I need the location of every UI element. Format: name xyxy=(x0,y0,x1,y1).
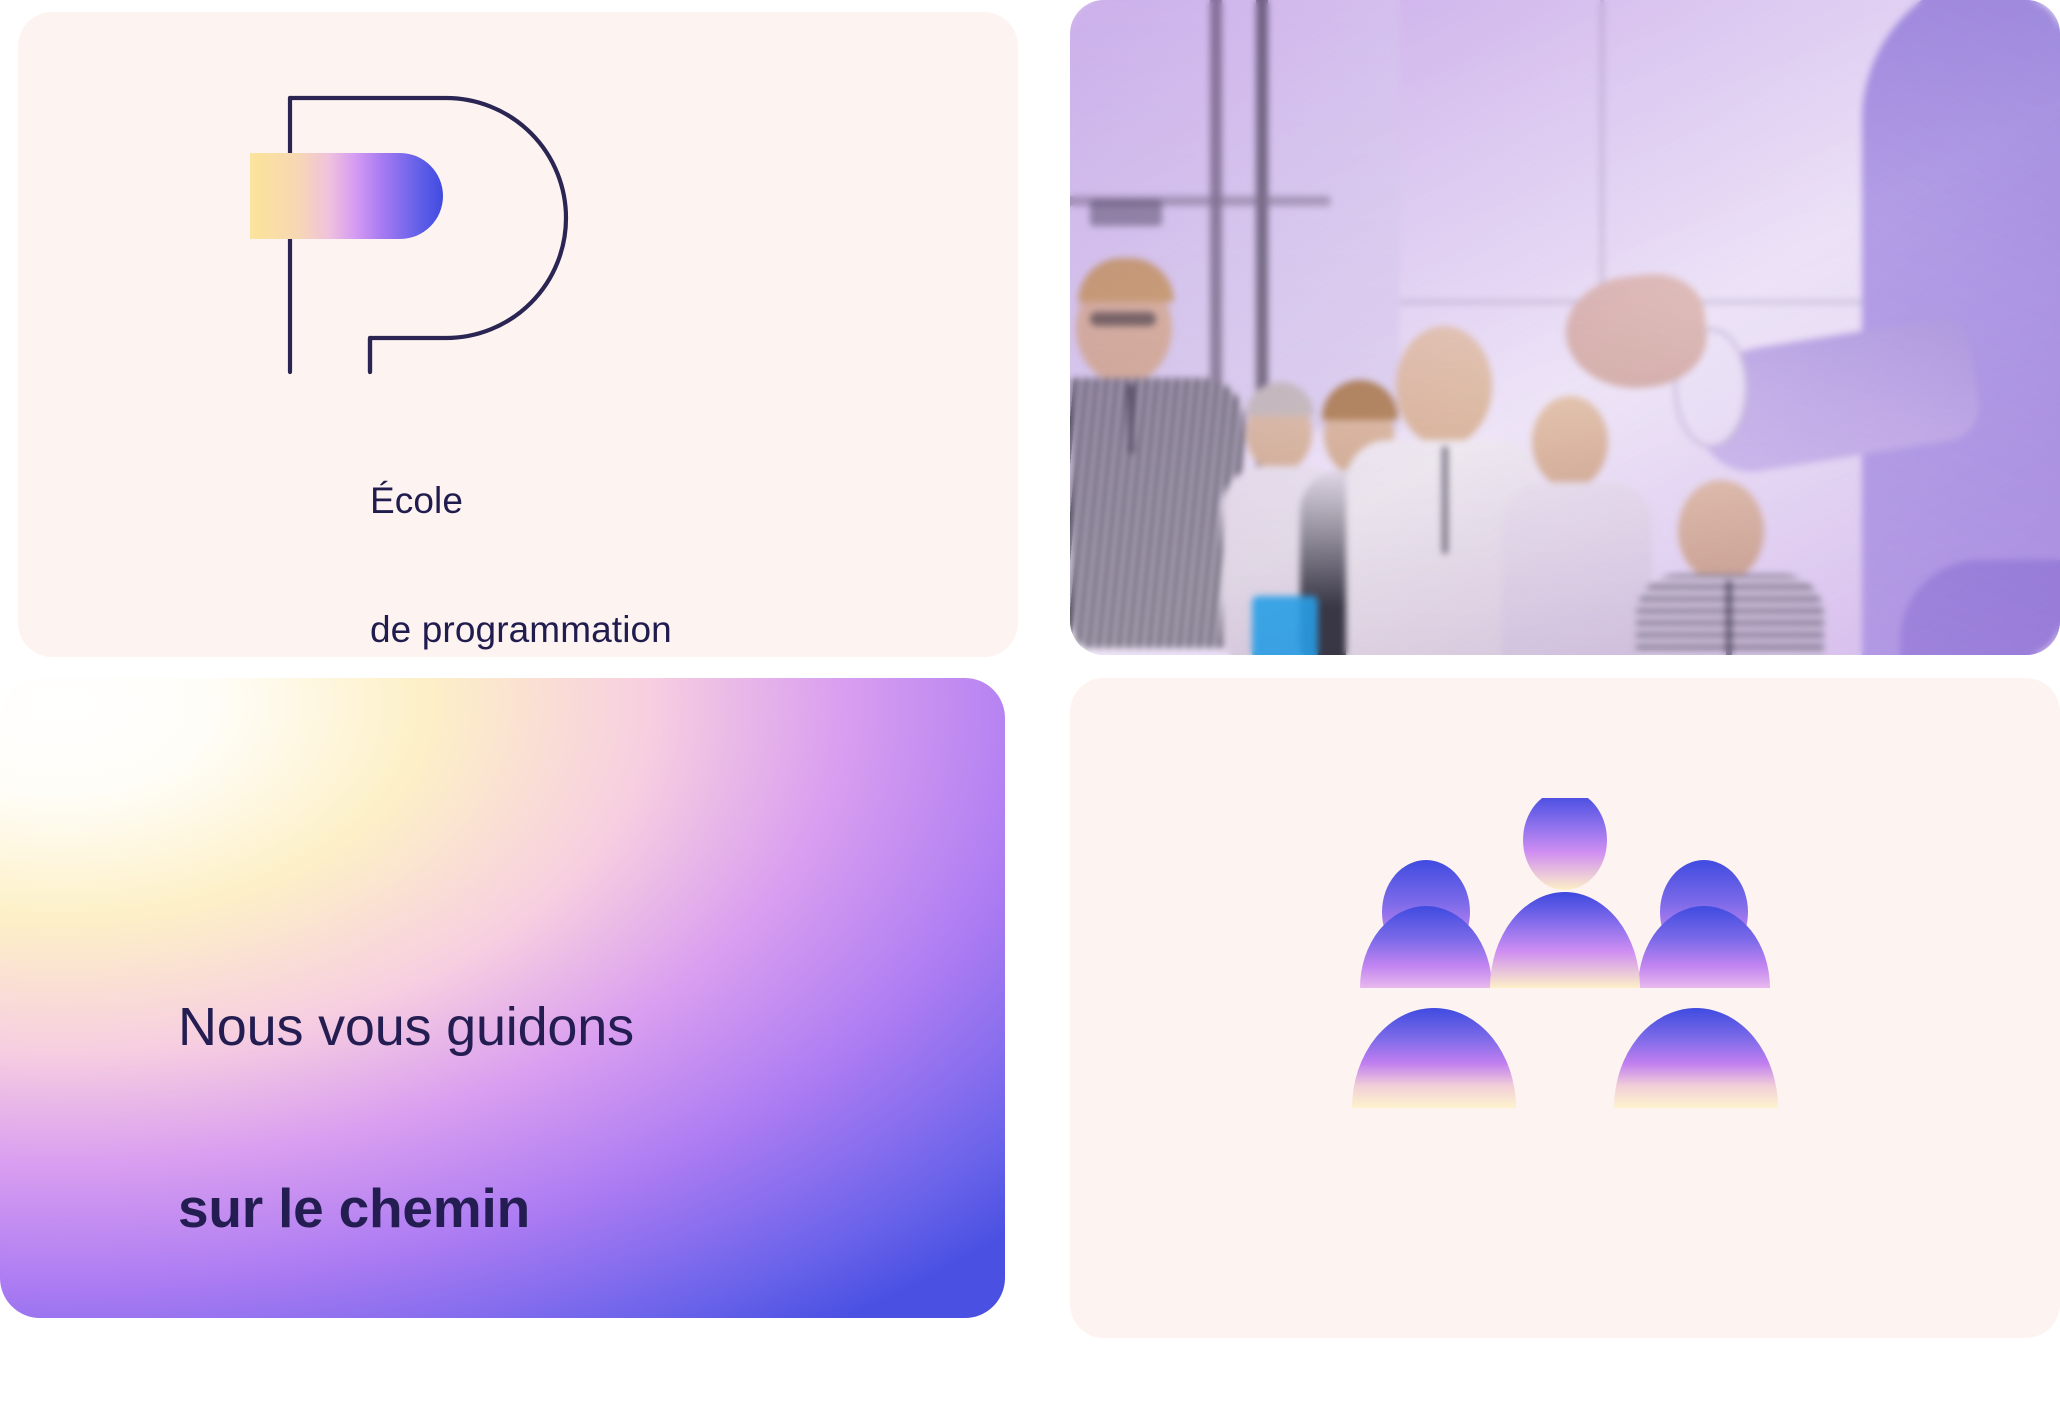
person-body-left-back xyxy=(1360,906,1492,988)
wordmark-line-2: de programmation xyxy=(370,609,672,652)
person-body-right-back xyxy=(1638,906,1770,988)
wordmark-line-1: École xyxy=(370,480,672,523)
three-people-group-icon xyxy=(1330,798,1800,1218)
photo-cell xyxy=(1030,0,2060,660)
people-cell xyxy=(1030,660,2060,1424)
logo-card[interactable]: École de programmation neuro-linguistiqu… xyxy=(18,12,1018,657)
slogan-line-1: Nous vous guidons xyxy=(178,997,634,1057)
photo-violet-tint xyxy=(1070,0,2060,655)
person-head-center xyxy=(1523,798,1607,890)
slogan-line-2: sur le chemin xyxy=(178,1178,634,1240)
slogan-text-block: Nous vous guidons sur le chemin de votre… xyxy=(178,876,634,1318)
people-icon-card[interactable] xyxy=(1070,678,2060,1338)
brand-board-grid: École de programmation neuro-linguistiqu… xyxy=(0,0,2060,1424)
seminar-photo-image xyxy=(1070,0,2060,655)
person-body-center xyxy=(1490,892,1640,988)
logo-wordmark: École de programmation neuro-linguistiqu… xyxy=(370,394,672,657)
slogan-cell: Nous vous guidons sur le chemin de votre… xyxy=(0,660,1030,1424)
letter-p-logo-icon xyxy=(250,90,720,380)
logo-stage: École de programmation neuro-linguistiqu… xyxy=(18,12,1018,657)
logo-cell: École de programmation neuro-linguistiqu… xyxy=(0,0,1030,660)
slogan-card[interactable]: Nous vous guidons sur le chemin de votre… xyxy=(0,678,1005,1318)
seminar-photo-card[interactable] xyxy=(1070,0,2060,655)
person-body-left-front xyxy=(1352,1008,1516,1108)
person-body-right-front xyxy=(1614,1008,1778,1108)
